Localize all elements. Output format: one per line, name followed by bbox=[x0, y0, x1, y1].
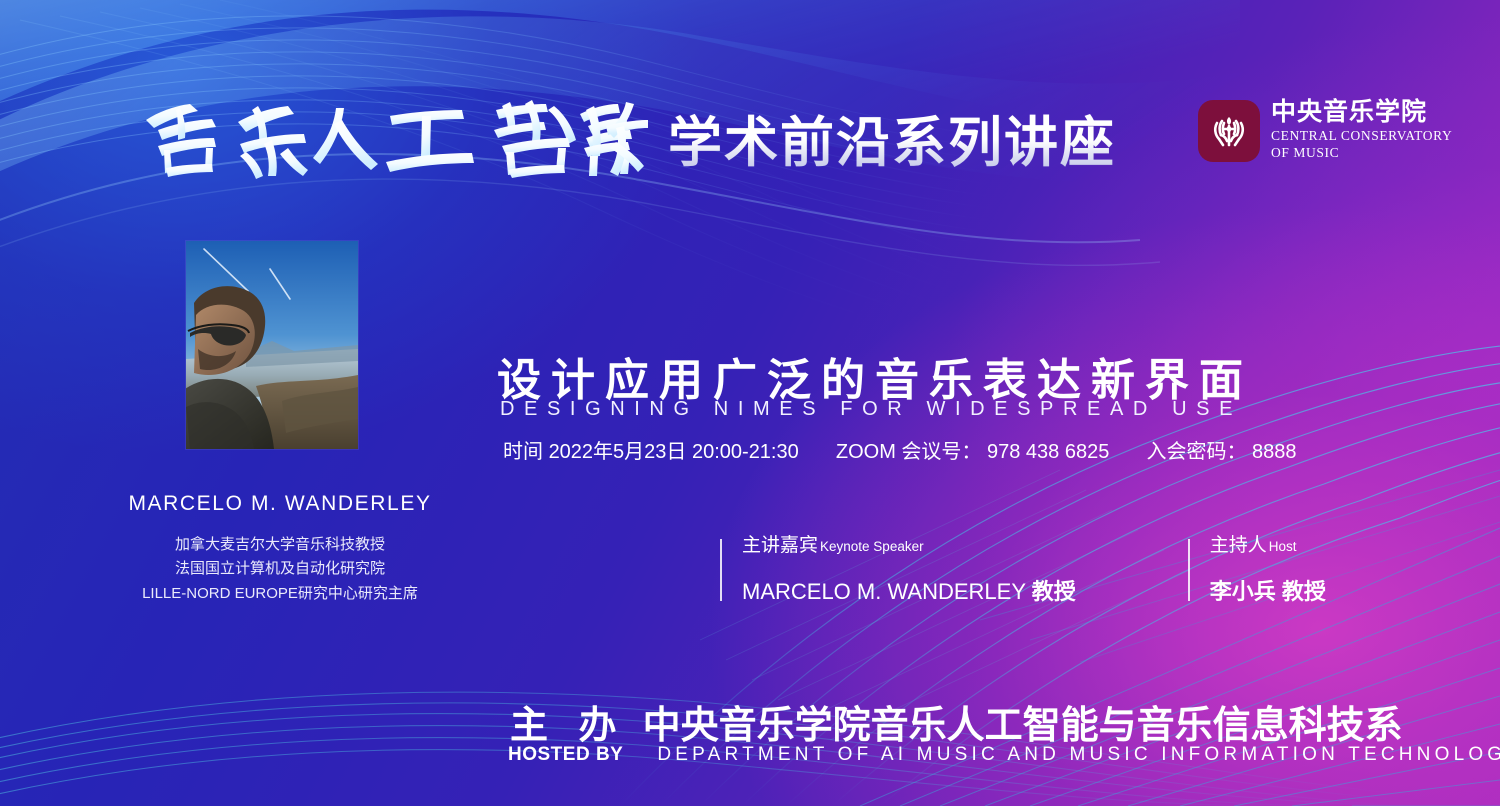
host-person-title: 教授 bbox=[1282, 579, 1326, 604]
bio-line-2: 法国国立计算机及自动化研究院 bbox=[0, 557, 560, 581]
logo-name-cn: 中央音乐学院 bbox=[1271, 100, 1452, 126]
lecture-meta: 时间 2022年5月23日 20:00-21:30 ZOOM 会议号： 978 … bbox=[503, 435, 1297, 464]
conservatory-logo: 中央音乐学院 CENTRAL CONSERVATORY OF MUSIC bbox=[1198, 100, 1452, 162]
keynote-speaker-block: 主讲嘉宾Keynote Speaker MARCELO M. WANDERLEY… bbox=[720, 536, 1076, 606]
bio-line-1: 加拿大麦吉尔大学音乐科技教授 bbox=[0, 533, 560, 557]
host-role-en: Host bbox=[1269, 539, 1297, 554]
time-value: 2022年5月23日 20:00-21:30 bbox=[549, 441, 799, 463]
zoom-label: ZOOM 会议号： bbox=[836, 441, 982, 463]
host-role: 主持人Host bbox=[1210, 536, 1326, 557]
host-person: 李小兵 教授 bbox=[1210, 574, 1326, 606]
lecture-title-en: DESIGNING NIMES FOR WIDESPREAD USE bbox=[500, 398, 1242, 421]
bio-line-3: LILLE-NORD EUROPE研究中心研究主席 bbox=[0, 582, 560, 606]
credits-row: 主讲嘉宾Keynote Speaker MARCELO M. WANDERLEY… bbox=[720, 536, 1326, 606]
logo-name-en-line1: CENTRAL CONSERVATORY bbox=[1271, 128, 1452, 145]
speaker-name: MARCELO M. WANDERLEY bbox=[0, 492, 560, 516]
organizer-name-cn: 中央音乐学院音乐人工智能与音乐信息科技系 bbox=[643, 705, 1403, 747]
logo-wordmark: 中央音乐学院 CENTRAL CONSERVATORY OF MUSIC bbox=[1271, 100, 1452, 162]
speaker-photo bbox=[186, 241, 358, 449]
department-calligraphy bbox=[128, 86, 648, 182]
host-person-name: 李小兵 bbox=[1210, 579, 1276, 604]
keynote-role-en: Keynote Speaker bbox=[820, 539, 924, 554]
time-label: 时间 bbox=[503, 441, 543, 463]
poster-header: 学术前沿系列讲座 bbox=[0, 0, 1500, 200]
footer-organizer-en: HOSTED BY DEPARTMENT OF AI MUSIC AND MUS… bbox=[508, 744, 1500, 766]
footer-organizer-cn: 主 办中央音乐学院音乐人工智能与音乐信息科技系 bbox=[510, 694, 1403, 749]
keynote-role-cn: 主讲嘉宾 bbox=[742, 535, 818, 556]
passcode-value: 8888 bbox=[1252, 441, 1297, 463]
organizer-name-en: DEPARTMENT OF AI MUSIC AND MUSIC INFORMA… bbox=[657, 744, 1500, 766]
zoom-id: 978 438 6825 bbox=[987, 441, 1109, 463]
hosted-label-cn: 主 办 bbox=[510, 705, 627, 747]
conservatory-emblem-icon bbox=[1207, 109, 1251, 153]
calligraphy-strokes bbox=[128, 86, 648, 182]
keynote-person: MARCELO M. WANDERLEY 教授 bbox=[742, 574, 1076, 606]
keynote-role: 主讲嘉宾Keynote Speaker bbox=[742, 536, 1076, 557]
speaker-photo-image bbox=[186, 241, 358, 449]
speaker-bio: 加拿大麦吉尔大学音乐科技教授 法国国立计算机及自动化研究院 LILLE-NORD… bbox=[0, 533, 560, 606]
conservatory-emblem-badge bbox=[1198, 100, 1260, 162]
host-block: 主持人Host 李小兵 教授 bbox=[1188, 536, 1326, 606]
hosted-label-en: HOSTED BY bbox=[508, 744, 623, 766]
passcode-label: 入会密码： bbox=[1146, 441, 1246, 463]
poster-canvas: 学术前沿系列讲座 bbox=[0, 0, 1500, 806]
keynote-person-title: 教授 bbox=[1032, 579, 1076, 604]
logo-name-en-line2: OF MUSIC bbox=[1271, 145, 1452, 162]
keynote-person-name: MARCELO M. WANDERLEY bbox=[742, 579, 1026, 604]
host-role-cn: 主持人 bbox=[1210, 535, 1267, 556]
series-title: 学术前沿系列讲座 bbox=[668, 98, 1116, 177]
